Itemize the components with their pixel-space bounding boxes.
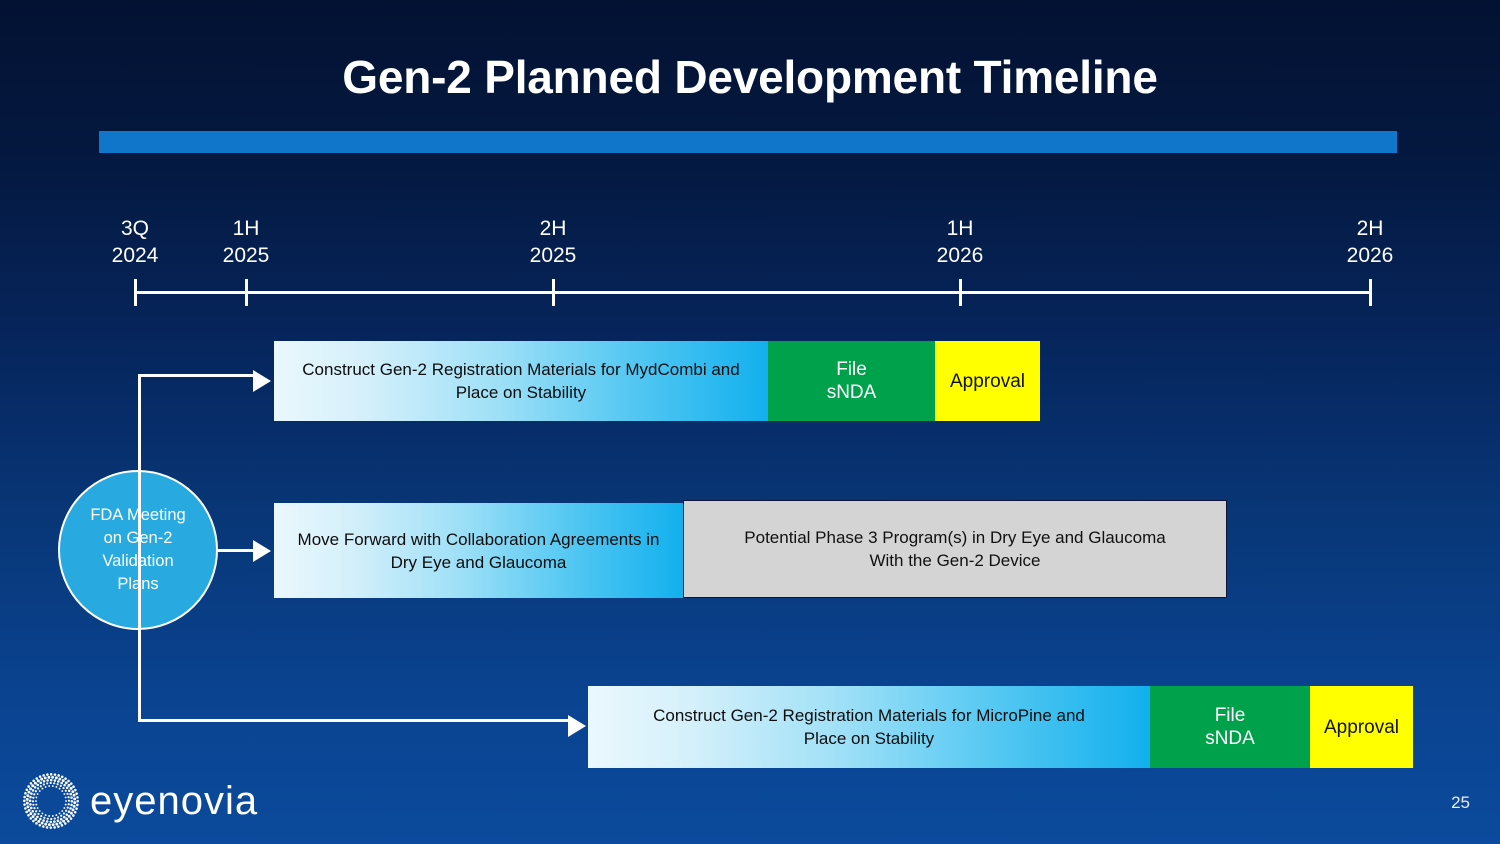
connector-to-collaboration-arrow xyxy=(253,540,271,562)
timeline-tick-1 xyxy=(245,279,248,306)
track-mydcombi-segment-gradient: Construct Gen-2 Registration Materials f… xyxy=(274,341,768,421)
timeline-tick-3 xyxy=(959,279,962,306)
track-micropine-segment-green: File sNDA xyxy=(1150,686,1310,768)
page-title: Gen-2 Planned Development Timeline xyxy=(0,50,1500,104)
timeline-tick-2 xyxy=(552,279,555,306)
brand-logo-text: eyenovia xyxy=(90,779,258,824)
track-collaboration-segment-gradient: Move Forward with Collaboration Agreemen… xyxy=(274,503,683,598)
track-collaboration-segment-gray: Potential Phase 3 Program(s) in Dry Eye … xyxy=(683,500,1227,598)
connector-spine xyxy=(138,374,141,722)
track-mydcombi-segment-green-label: File sNDA xyxy=(817,358,887,404)
title-accent-bar xyxy=(99,131,1397,153)
track-mydcombi-segment-green: File sNDA xyxy=(768,341,935,421)
track-mydcombi-segment-gradient-label: Construct Gen-2 Registration Materials f… xyxy=(292,358,749,404)
connector-to-mydcombi-arrow xyxy=(253,370,271,392)
connector-to-collaboration-line xyxy=(216,549,255,552)
page-number: 25 xyxy=(1451,793,1470,813)
track-mydcombi-segment-yellow: Approval xyxy=(935,341,1040,421)
track-micropine-segment-gradient: Construct Gen-2 Registration Materials f… xyxy=(588,686,1150,768)
timeline-tick-0 xyxy=(134,279,137,306)
timeline-tick-4 xyxy=(1369,279,1372,306)
connector-to-mydcombi-line xyxy=(138,374,255,377)
track-micropine-segment-yellow-label: Approval xyxy=(1314,716,1409,739)
track-collaboration-segment-gray-label: Potential Phase 3 Program(s) in Dry Eye … xyxy=(734,526,1175,572)
timeline-tick-label-3: 1H 2026 xyxy=(890,215,1030,269)
timeline-tick-label-1: 1H 2025 xyxy=(176,215,316,269)
connector-to-micropine-arrow xyxy=(568,715,586,737)
dotted-ring-icon xyxy=(22,772,80,830)
track-micropine-segment-yellow: Approval xyxy=(1310,686,1413,768)
timeline-axis-line xyxy=(134,291,1370,294)
slide-root: Gen-2 Planned Development Timeline 3Q 20… xyxy=(0,0,1500,844)
track-mydcombi-segment-yellow-label: Approval xyxy=(940,370,1035,393)
timeline-tick-label-4: 2H 2026 xyxy=(1300,215,1440,269)
track-micropine-segment-gradient-label: Construct Gen-2 Registration Materials f… xyxy=(643,704,1095,750)
track-micropine-segment-green-label: File sNDA xyxy=(1195,704,1265,750)
track-collaboration-segment-gradient-label: Move Forward with Collaboration Agreemen… xyxy=(288,528,670,574)
connector-to-micropine-line xyxy=(138,719,570,722)
brand-logo: eyenovia xyxy=(22,772,258,830)
timeline-tick-label-2: 2H 2025 xyxy=(483,215,623,269)
